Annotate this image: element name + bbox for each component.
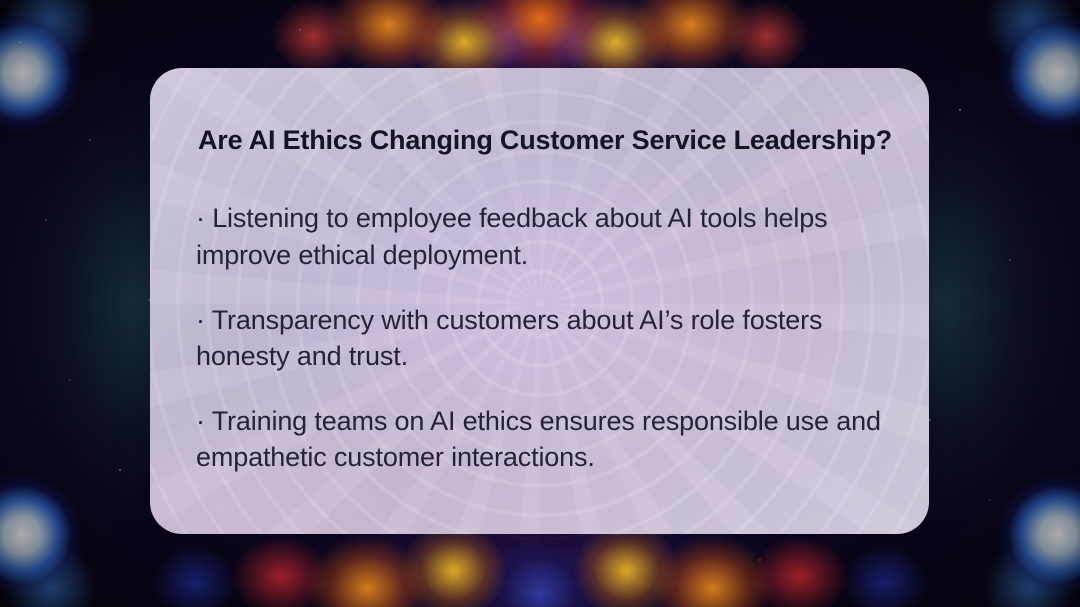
content-card: Are AI Ethics Changing Customer Service …	[150, 68, 929, 534]
bullet-list: · Listening to employee feedback about A…	[174, 200, 889, 475]
bullet-item: · Training teams on AI ethics ensures re…	[196, 403, 889, 475]
bullet-item: · Transparency with customers about AI’s…	[196, 302, 889, 374]
slide-canvas: Are AI Ethics Changing Customer Service …	[0, 0, 1080, 607]
slide-title: Are AI Ethics Changing Customer Service …	[174, 124, 889, 156]
bullet-item: · Listening to employee feedback about A…	[196, 200, 889, 272]
